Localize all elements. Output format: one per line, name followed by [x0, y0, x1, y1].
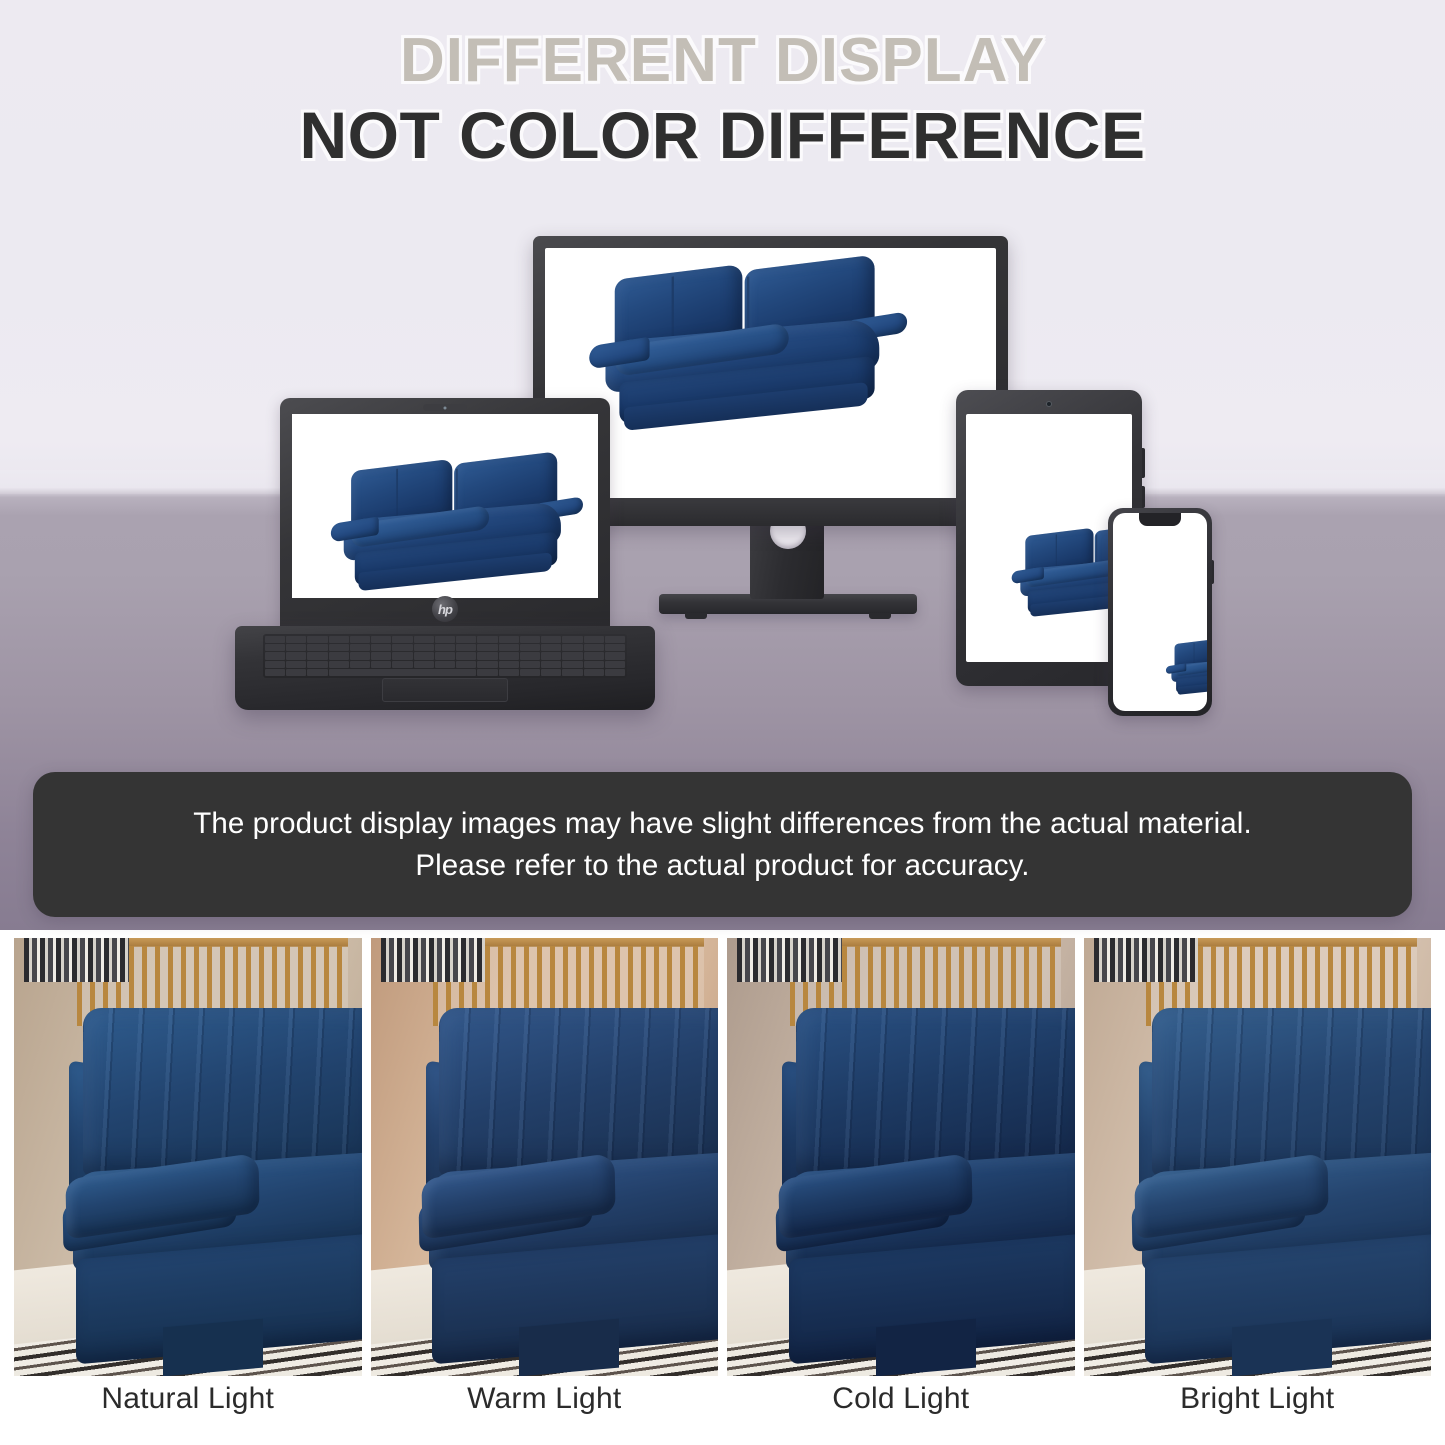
monitor-foot-right	[869, 613, 891, 619]
photo-panel-cold-light	[727, 938, 1075, 1376]
monitor-neck	[750, 519, 824, 599]
device-phone	[1108, 508, 1212, 716]
laptop-keyboard[interactable]	[263, 634, 627, 678]
label-natural-light: Natural Light	[14, 1382, 362, 1416]
device-laptop: hp	[235, 398, 655, 718]
laptop-trackpad[interactable]	[382, 678, 508, 702]
phone-notch	[1139, 513, 1181, 526]
laptop-lid: hp	[280, 398, 610, 630]
tablet-volume-button[interactable]	[1142, 448, 1145, 478]
disclaimer-box: The product display images may have slig…	[33, 772, 1412, 917]
hp-logo-icon: hp	[432, 596, 458, 622]
photo-books	[1094, 938, 1198, 982]
phone-power-button[interactable]	[1212, 560, 1214, 584]
label-bright-light: Bright Light	[1084, 1382, 1432, 1416]
photo-sofa	[63, 1008, 362, 1358]
photo-books	[381, 938, 485, 982]
phone-screen	[1113, 513, 1207, 711]
laptop-screen	[292, 414, 598, 598]
disclaimer-line-1: The product display images may have slig…	[193, 803, 1252, 845]
tablet-power-button[interactable]	[1142, 486, 1145, 508]
label-cold-light: Cold Light	[727, 1382, 1075, 1416]
laptop-camera-icon	[423, 404, 467, 411]
tablet-camera-icon	[1046, 401, 1052, 407]
infographic-page: DIFFERENT DISPLAY NOT COLOR DIFFERENCE	[0, 0, 1445, 1445]
photo-sofa	[1132, 1008, 1431, 1358]
photo-sofa	[419, 1008, 718, 1358]
label-warm-light: Warm Light	[371, 1382, 719, 1416]
photo-panel-natural-light	[14, 938, 362, 1376]
sofa-image-phone	[1161, 637, 1208, 696]
lighting-comparison-grid	[14, 938, 1431, 1376]
photo-panel-bright-light	[1084, 938, 1432, 1376]
lighting-labels: Natural Light Warm Light Cold Light Brig…	[14, 1382, 1431, 1416]
sofa-image-laptop	[318, 454, 594, 592]
photo-books	[737, 938, 841, 982]
disclaimer-line-2: Please refer to the actual product for a…	[415, 845, 1029, 887]
laptop-base	[235, 626, 655, 710]
photo-sofa	[776, 1008, 1075, 1358]
phone-body	[1108, 508, 1212, 716]
photo-books	[24, 938, 128, 982]
monitor-foot-left	[685, 613, 707, 619]
device-stage: hp	[0, 0, 1445, 740]
photo-panel-warm-light	[371, 938, 719, 1376]
